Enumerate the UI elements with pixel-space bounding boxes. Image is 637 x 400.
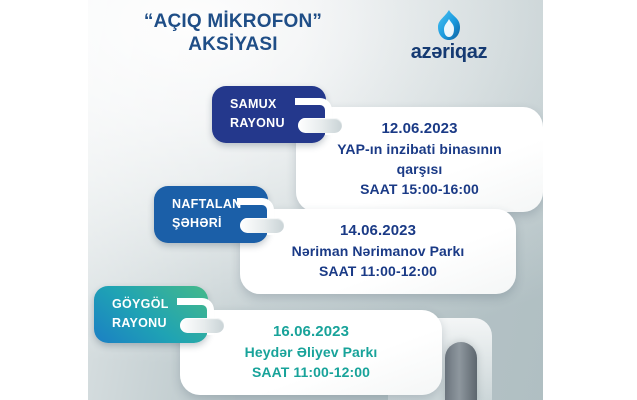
poster-image: “AÇIQ MİKROFON” AKSİYASI azəriqaz — [88, 0, 543, 400]
connector-hook-icon — [177, 298, 214, 335]
event-place: YAP-ın inzibati binasının — [310, 139, 529, 159]
event-time: SAAT 15:00-16:00 — [310, 179, 529, 199]
event-time: SAAT 11:00-12:00 — [254, 261, 502, 281]
district-tag-naftalan: NAFTALAN ŞƏHƏRİ — [154, 186, 268, 243]
connector-hook-icon — [237, 198, 274, 235]
brand-wordmark: azəriqaz — [374, 42, 524, 62]
district-tag-goygol: GÖYGÖL RAYONU — [94, 286, 208, 343]
event-place-2: qarşısı — [310, 159, 529, 179]
event-place: Nəriman Nərimanov Parkı — [254, 241, 502, 261]
district-tag-line-1: GÖYGÖL — [112, 297, 169, 311]
connector-hook-icon — [295, 98, 332, 135]
flame-icon — [436, 10, 462, 40]
page-title: “AÇIQ MİKROFON” AKSİYASI — [102, 10, 364, 56]
poster-header: “AÇIQ MİKROFON” AKSİYASI azəriqaz — [88, 6, 543, 80]
event-row-samux: SAMUX RAYONU 12.06.2023 YAP-ın inzibati … — [88, 86, 543, 178]
title-line-2: AKSİYASI — [102, 33, 364, 56]
district-tag-samux: SAMUX RAYONU — [212, 86, 326, 143]
event-date: 14.06.2023 — [254, 221, 502, 241]
district-tag-line-1: SAMUX — [230, 97, 277, 111]
microphone-icon — [445, 342, 477, 400]
title-line-1: “AÇIQ MİKROFON” — [144, 11, 322, 32]
event-date: 12.06.2023 — [310, 119, 529, 139]
district-tag-line-1: NAFTALAN — [172, 197, 242, 211]
azeriqaz-logo: azəriqaz — [374, 10, 524, 62]
event-time: SAAT 11:00-12:00 — [194, 362, 428, 382]
event-place: Heydər Əliyev Parkı — [194, 342, 428, 362]
event-date: 16.06.2023 — [194, 322, 428, 342]
screenshot-canvas: “AÇIQ MİKROFON” AKSİYASI azəriqaz — [0, 0, 637, 400]
